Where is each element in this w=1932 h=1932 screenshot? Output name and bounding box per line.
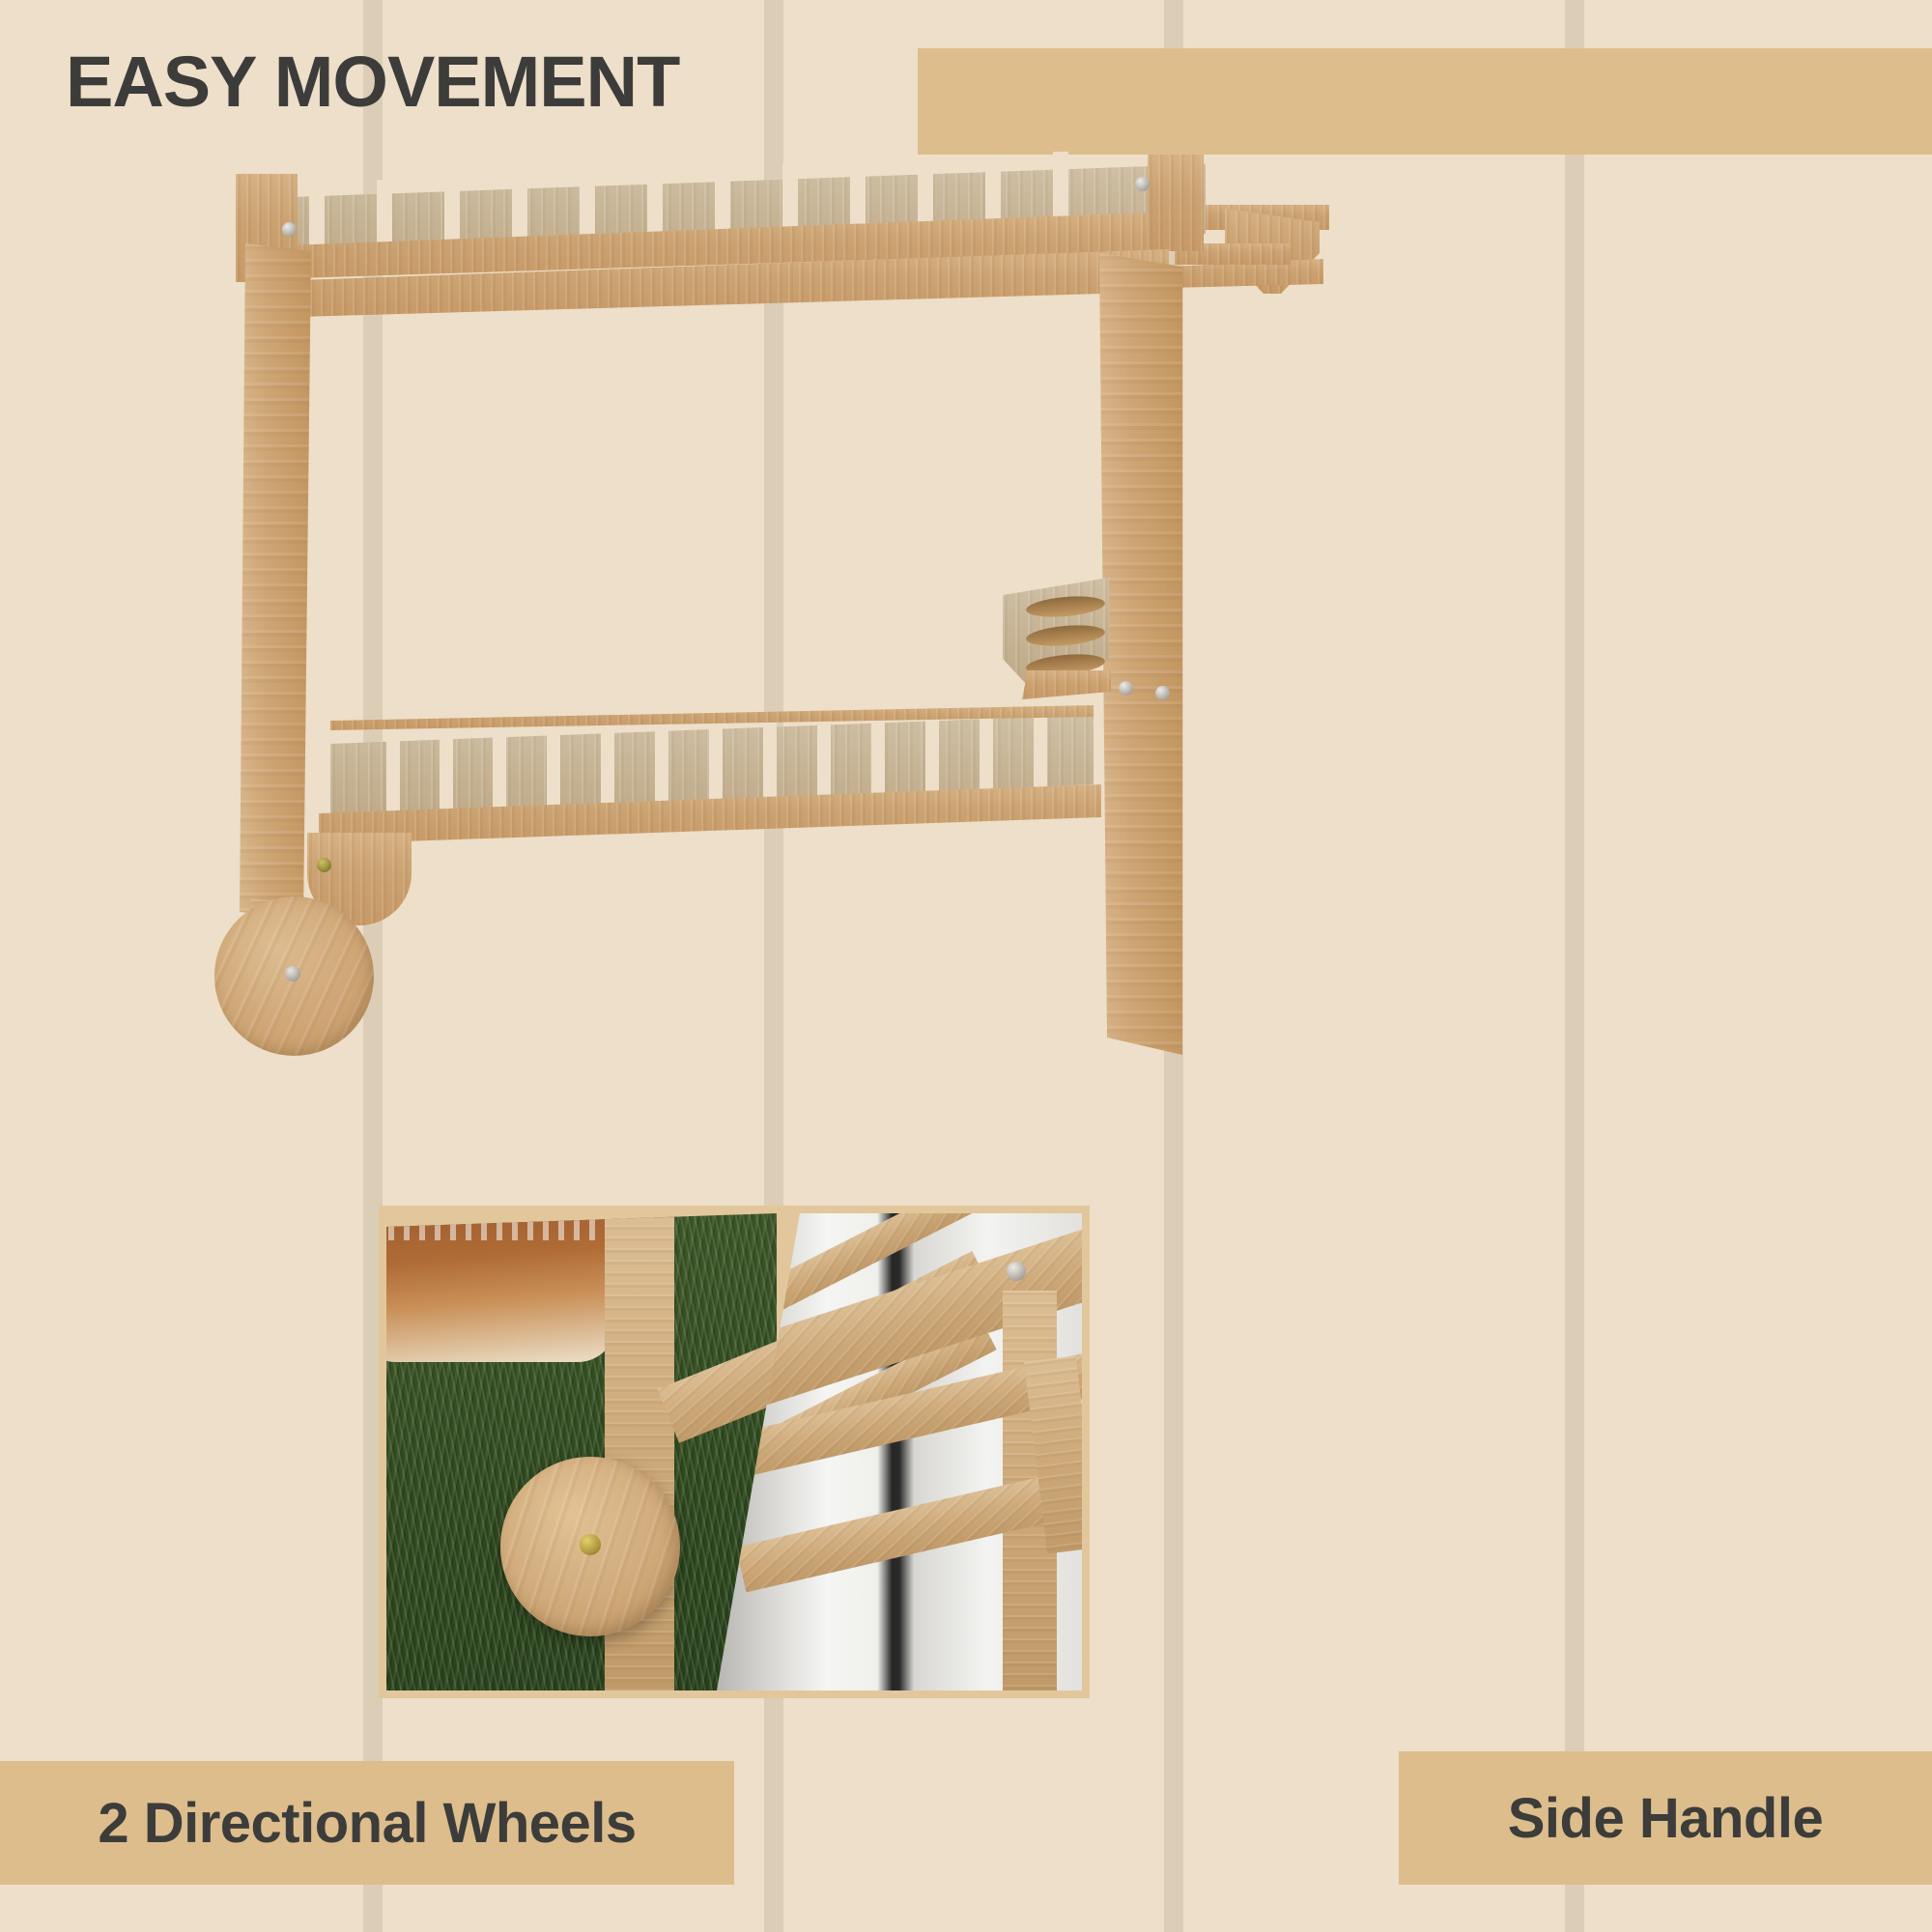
- marketing-image-canvas: EASY MOVEMENT: [0, 0, 1932, 1932]
- wheel-closeup-photo: [386, 1213, 777, 1690]
- shelf-slat-gap: [386, 736, 400, 815]
- feature-label-handle-text: Side Handle: [1508, 1786, 1823, 1851]
- feature-photo-collage: [379, 1206, 1090, 1698]
- photo-wheel-center-screw: [580, 1534, 601, 1555]
- shelf-slat-gap: [1034, 713, 1047, 792]
- feature-label-handle: Side Handle: [1399, 1751, 1932, 1885]
- tabletop-right-endcap: [1148, 155, 1204, 251]
- shelf-slat-gap: [547, 730, 560, 810]
- shelf-slat-gap: [440, 734, 453, 813]
- shelf-slat-gap: [817, 721, 831, 800]
- holder-base: [1022, 670, 1111, 699]
- shelf-slat-gap: [601, 728, 614, 808]
- shelf-slat-gap: [980, 715, 993, 794]
- shelf-slat-gap: [925, 717, 939, 796]
- feature-label-wheels-text: 2 Directional Wheels: [98, 1791, 636, 1856]
- wheel-center-screw: [285, 966, 300, 981]
- shelf-slat-gap: [871, 719, 885, 798]
- holder-mount-screw: [1119, 681, 1133, 696]
- leg-left: [240, 243, 311, 920]
- tabletop-screw: [1135, 177, 1150, 191]
- shelf-slat-gap: [493, 732, 506, 811]
- wheel-axle-screw: [317, 858, 331, 872]
- leg-right: [1099, 253, 1182, 1055]
- shelf-slat-gap: [709, 724, 723, 804]
- feature-label-wheels: 2 Directional Wheels: [0, 1761, 734, 1885]
- shelf-slat-gap: [655, 726, 668, 806]
- holder-mount-screw: [1155, 686, 1170, 700]
- tabletop-screw: [282, 222, 297, 237]
- shelf-slat-gap: [763, 723, 777, 802]
- photo-table-screw: [1007, 1262, 1026, 1281]
